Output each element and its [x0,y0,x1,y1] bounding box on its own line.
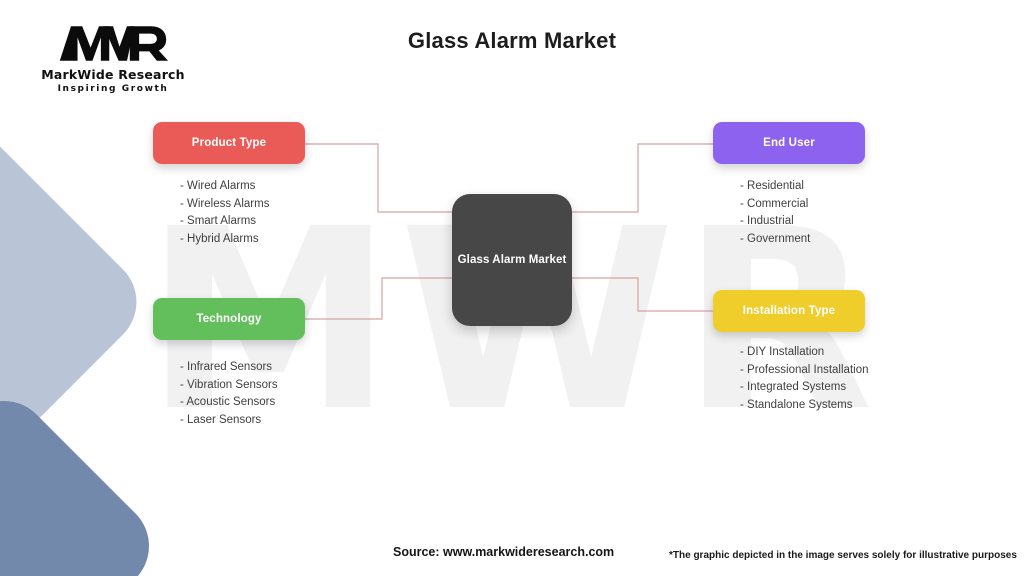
center-node[interactable]: Glass Alarm Market [452,194,572,326]
list-item: - Hybrid Alarms [180,231,430,249]
segment-label-product-type: Product Type [192,137,266,149]
list-item: - Wireless Alarms [180,196,430,214]
source-attribution: Source: www.markwideresearch.com [393,545,614,559]
segment-header-technology[interactable]: Technology [153,298,305,340]
connector-installation-type [572,278,713,311]
list-item: - Residential [740,178,990,196]
segment-label-end-user: End User [763,137,815,149]
segment-header-end-user[interactable]: End User [713,122,865,164]
segment-label-technology: Technology [196,313,261,325]
list-item: - Integrated Systems [740,379,990,397]
segment-list-technology: - Infrared Sensors - Vibration Sensors -… [180,359,430,429]
connector-technology [305,278,452,319]
center-node-label: Glass Alarm Market [458,254,567,266]
list-item: - Laser Sensors [180,412,430,430]
list-item: - Standalone Systems [740,397,990,415]
segment-header-installation-type[interactable]: Installation Type [713,290,865,332]
list-item: - Infrared Sensors [180,359,430,377]
segment-list-installation-type: - DIY Installation - Professional Instal… [740,344,990,414]
segment-label-installation-type: Installation Type [743,305,835,317]
list-item: - Vibration Sensors [180,377,430,395]
list-item: - Industrial [740,213,990,231]
disclaimer-text: *The graphic depicted in the image serve… [669,550,1017,561]
list-item: - Acoustic Sensors [180,394,430,412]
list-item: - Government [740,231,990,249]
connector-end-user [572,144,713,212]
segment-list-product-type: - Wired Alarms - Wireless Alarms - Smart… [180,178,430,248]
list-item: - Commercial [740,196,990,214]
infographic-canvas: MWR MarkWide Research Inspiring Growth G… [0,0,1024,576]
segment-header-product-type[interactable]: Product Type [153,122,305,164]
list-item: - DIY Installation [740,344,990,362]
segment-list-end-user: - Residential - Commercial - Industrial … [740,178,990,248]
list-item: - Wired Alarms [180,178,430,196]
list-item: - Professional Installation [740,362,990,380]
list-item: - Smart Alarms [180,213,430,231]
